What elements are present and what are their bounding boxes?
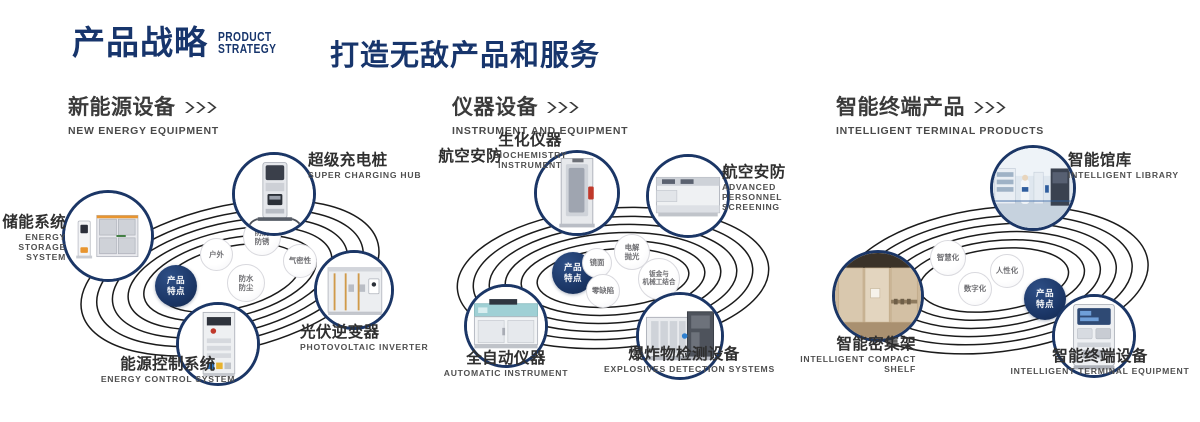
feature-bubble-airtight: 气密性 — [283, 244, 317, 278]
feature-bubble-humanized: 人性化 — [990, 254, 1024, 288]
chevrons-right-icon — [974, 102, 1008, 113]
compact-shelving-photo — [835, 253, 921, 339]
cluster-intelligent: 智慧化 数字化 人性化 产品特点 — [812, 160, 1182, 390]
caption-cn: 生化仪器 — [450, 132, 610, 149]
section-title-cn: 新能源设备 — [68, 96, 176, 120]
caption-intelligent-terminal-equipment: 智能终端设备 INTELLIGENT TERMINAL EQUIPMENT — [1010, 348, 1190, 377]
feature-core-label: 产品特点 — [167, 275, 185, 296]
caption-intelligent-compact-shelf: 智能密集架 INTELLIGENT COMPACT SHELF — [724, 336, 916, 375]
caption-cn: 航空安防 — [392, 148, 502, 165]
chevrons-right-icon — [185, 102, 219, 113]
node-advanced-personnel-screening[interactable] — [646, 154, 730, 238]
caption-advanced-personnel-screening: 航空安防 ADVANCED PERSONNEL SCREENING — [722, 164, 798, 212]
feature-bubble-mirror: 镜面 — [582, 248, 612, 278]
caption-en: ADVANCED PERSONNEL SCREENING — [722, 183, 798, 212]
section-title-en: NEW ENERGY EQUIPMENT — [68, 125, 219, 137]
caption-en: ENERGY STORAGE SYSTEM — [0, 233, 66, 262]
caption-en: INTELLIGENT TERMINAL EQUIPMENT — [1010, 367, 1190, 377]
feature-bubble-outdoor: 户外 — [200, 238, 233, 271]
feature-bubble-smart: 智慧化 — [930, 240, 966, 276]
caption-en: INTELLIGENT LIBRARY — [1068, 171, 1179, 181]
caption-cn: 智能密集架 — [724, 336, 916, 353]
page-title-en: PRODUCT STRATEGY — [218, 31, 276, 60]
library-interior-photo — [993, 148, 1073, 228]
node-intelligent-compact-shelf[interactable] — [832, 250, 924, 342]
section-heading-new-energy: 新能源设备 NEW ENERGY EQUIPMENT — [68, 96, 219, 137]
node-photovoltaic-inverter[interactable] — [314, 250, 394, 330]
caption-en: SUPER CHARGING HUB — [308, 171, 421, 181]
section-title-cn: 智能终端产品 — [836, 96, 965, 120]
page-slogan: 打造无敌产品和服务 — [330, 32, 600, 74]
cluster-new-energy: 产品特点 户外 防腐 防锈 防水 防尘 气密性 储能系统 — [50, 160, 410, 390]
section-heading-intelligent: 智能终端产品 INTELLIGENT TERMINAL PRODUCTS — [836, 96, 1044, 137]
caption-aviation-security-left: 航空安防 — [392, 148, 502, 165]
node-intelligent-library[interactable] — [990, 145, 1076, 231]
caption-en: INTELLIGENT COMPACT SHELF — [724, 355, 916, 374]
feature-core-bubble: 产品特点 — [155, 265, 197, 307]
battery-cabinet-photo — [65, 193, 151, 279]
feature-core-label: 产品特点 — [1036, 288, 1054, 309]
screening-machine-photo — [649, 157, 727, 235]
node-super-charging-hub[interactable] — [232, 152, 316, 236]
feature-bubble-zero-defect: 零缺陷 — [586, 274, 620, 308]
chevrons-right-icon — [547, 102, 581, 113]
section-heading-instrument: 仪器设备 INSTRUMENT AND EQUIPMENT — [452, 96, 628, 137]
poster-canvas: 产品战略 PRODUCT STRATEGY 打造无敌产品和服务 新能源设备 NE… — [0, 0, 1200, 422]
caption-cn: 智能馆库 — [1068, 152, 1179, 169]
caption-en: PHOTOVOLTAIC INVERTER — [300, 343, 428, 353]
caption-cn: 能源控制系统 — [68, 356, 268, 373]
caption-cn: 储能系统 — [0, 214, 66, 231]
feature-bubble-digital: 数字化 — [958, 272, 992, 306]
caption-cn: 航空安防 — [722, 164, 798, 181]
caption-en: ENERGY CONTROL SYSTEM — [68, 375, 268, 385]
poster-header: 产品战略 PRODUCT STRATEGY — [72, 26, 289, 59]
caption-automatic-instrument: 全自动仪器 AUTOMATIC INSTRUMENT — [426, 350, 586, 379]
feature-bubble-waterproof: 防水 防尘 — [227, 264, 265, 302]
caption-cn: 全自动仪器 — [426, 350, 586, 367]
feature-core-label: 产品特点 — [564, 262, 582, 283]
page-title: 产品战略 — [72, 26, 208, 59]
node-energy-storage-system[interactable] — [62, 190, 154, 282]
charging-pile-photo — [235, 155, 313, 233]
caption-energy-control-system: 能源控制系统 ENERGY CONTROL SYSTEM — [68, 356, 268, 385]
caption-cn: 智能终端设备 — [1010, 348, 1190, 365]
caption-energy-storage-system: 储能系统 ENERGY STORAGE SYSTEM — [0, 214, 66, 262]
caption-intelligent-library: 智能馆库 INTELLIGENT LIBRARY — [1068, 152, 1179, 181]
caption-photovoltaic-inverter: 光伏逆变器 PHOTOVOLTAIC INVERTER — [300, 324, 428, 353]
caption-en: AUTOMATIC INSTRUMENT — [426, 369, 586, 379]
section-title-cn: 仪器设备 — [452, 96, 538, 120]
section-title-en: INTELLIGENT TERMINAL PRODUCTS — [836, 125, 1044, 137]
pv-inverter-photo — [317, 253, 391, 327]
caption-cn: 光伏逆变器 — [300, 324, 428, 341]
